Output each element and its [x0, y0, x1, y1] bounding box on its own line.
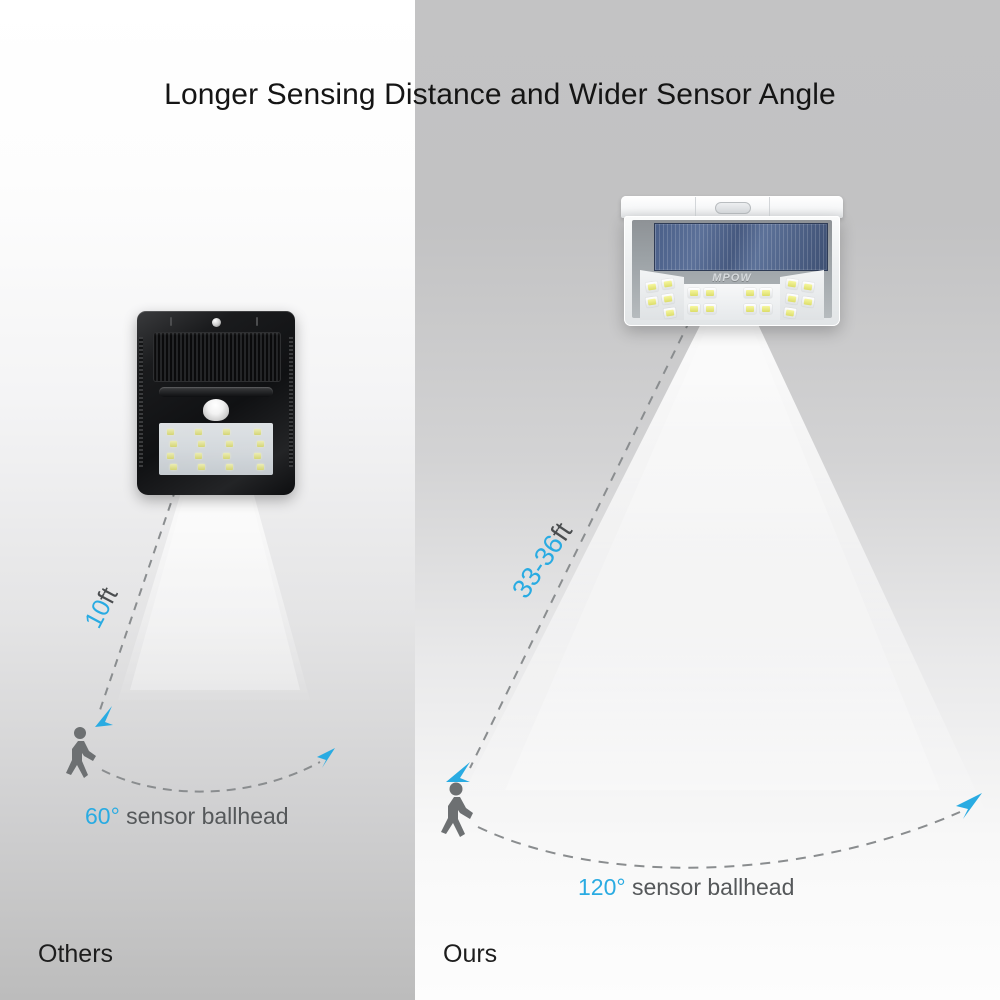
ours-led: [704, 288, 716, 298]
ours-led: [801, 281, 814, 293]
others-led: [226, 441, 233, 447]
product-image-ours: MPOW: [621, 196, 843, 328]
ours-hood-slot: [715, 202, 751, 214]
infographic-root: MPOW Longer Sensing Distance and Wider S…: [0, 0, 1000, 1000]
others-led: [254, 429, 261, 435]
others-led: [195, 453, 202, 459]
ours-housing: MPOW: [624, 216, 840, 326]
ours-solar-cell-lines: [655, 224, 827, 270]
person-icon-others: [66, 727, 96, 778]
ours-led: [801, 296, 814, 308]
caption-others: Others: [38, 940, 113, 969]
others-led: [223, 453, 230, 459]
others-led: [167, 453, 174, 459]
ours-led: [744, 304, 756, 314]
others-motion-sensor: [203, 399, 229, 421]
caption-ours: Ours: [443, 940, 497, 969]
ours-led: [688, 288, 700, 298]
light-beam-ours: [455, 274, 985, 810]
angle-text-ours: sensor ballhead: [626, 874, 795, 900]
ours-led: [744, 288, 756, 298]
ours-led-front: [684, 284, 780, 320]
angle-label-ours: 120° sensor ballhead: [578, 874, 794, 901]
others-led-panel: [159, 423, 273, 475]
others-led: [167, 429, 174, 435]
angle-text-others: sensor ballhead: [120, 803, 289, 829]
others-top-tick-left: [170, 317, 172, 326]
ours-solar-panel: [654, 223, 828, 271]
ours-led: [645, 281, 658, 293]
angle-value-others: 60°: [85, 803, 120, 829]
ours-led-wing-left: [640, 270, 684, 320]
ours-led: [688, 304, 700, 314]
others-led: [170, 441, 177, 447]
others-led: [254, 453, 261, 459]
diagram-overlay: [0, 0, 1000, 1000]
others-led: [257, 441, 264, 447]
arrowhead-down-left-ours-icon: [446, 762, 470, 782]
ours-hood-seam-left: [695, 197, 696, 217]
ours-hood-seam-right: [769, 197, 770, 217]
ours-led: [785, 293, 798, 305]
angle-value-ours: 120°: [578, 874, 626, 900]
page-title: Longer Sensing Distance and Wider Sensor…: [0, 78, 1000, 112]
others-trim-strip: [159, 387, 273, 397]
angle-label-others: 60° sensor ballhead: [85, 803, 289, 830]
others-side-vent-right: [289, 337, 293, 467]
ours-led: [785, 278, 798, 290]
ours-top-hood: [621, 196, 843, 218]
others-led: [170, 464, 177, 470]
ours-led: [661, 293, 674, 305]
sensor-arc-others: [102, 748, 335, 792]
others-led: [198, 464, 205, 470]
ours-led: [661, 278, 674, 290]
ours-inner-cavity: MPOW: [632, 220, 832, 318]
others-led: [195, 429, 202, 435]
ours-led: [663, 307, 676, 319]
others-top-tick-right: [256, 317, 258, 326]
arrowhead-down-left-icon: [95, 706, 113, 727]
ours-led-wing-right: [780, 270, 824, 320]
others-led: [198, 441, 205, 447]
others-solar-panel: [153, 332, 281, 382]
arrowhead-arc-others-icon: [317, 748, 335, 768]
others-led: [223, 429, 230, 435]
ours-led: [760, 304, 772, 314]
ours-led: [704, 304, 716, 314]
ours-led: [645, 296, 658, 308]
others-led: [257, 464, 264, 470]
others-indicator-dot: [212, 318, 221, 327]
others-side-vent-left: [139, 337, 143, 467]
ours-led: [760, 288, 772, 298]
product-image-others: [137, 311, 295, 495]
others-led: [226, 464, 233, 470]
ours-led: [783, 307, 796, 319]
